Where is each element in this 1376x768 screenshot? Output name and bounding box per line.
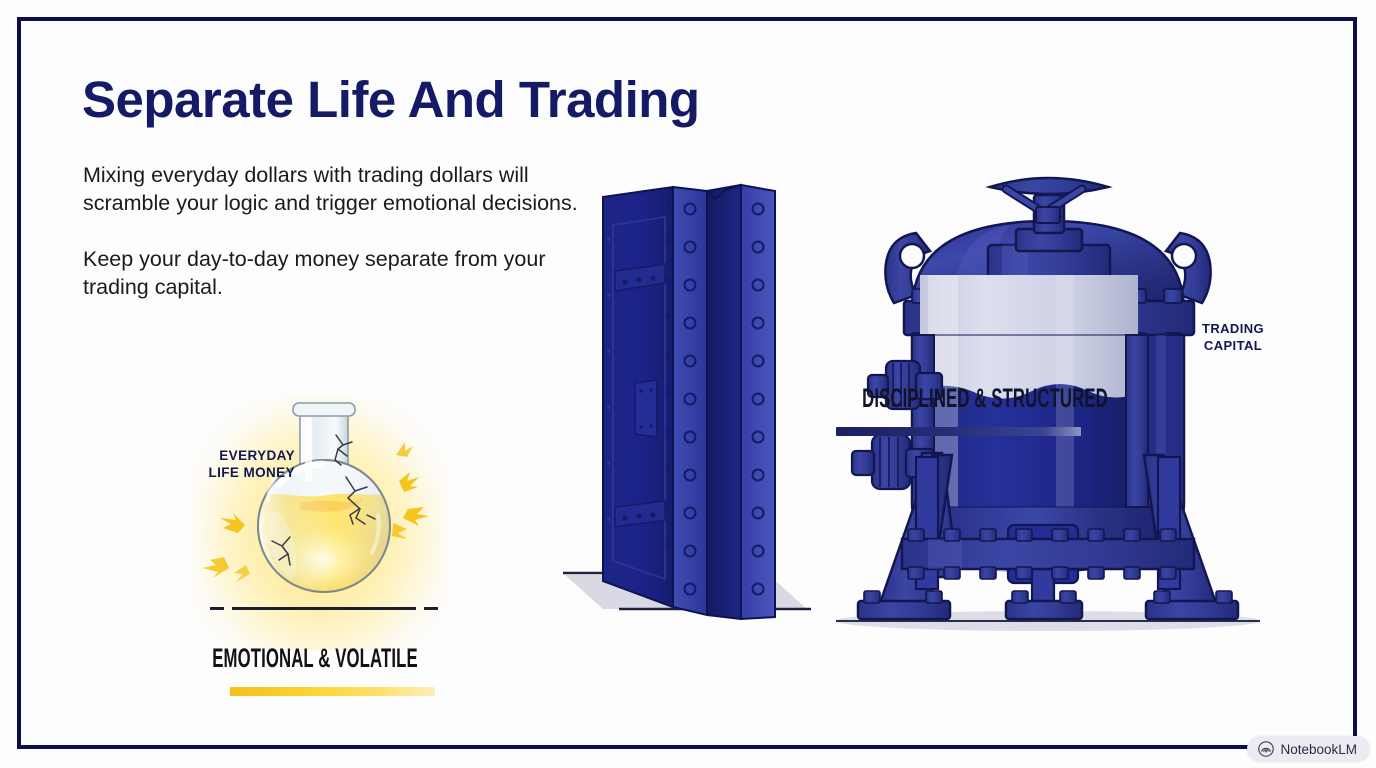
slide-canvas: Separate Life And Trading Mixing everyda… bbox=[0, 0, 1376, 768]
notebooklm-watermark-label: NotebookLM bbox=[1280, 742, 1357, 757]
notebooklm-spiral-icon bbox=[1258, 741, 1274, 757]
notebooklm-watermark: NotebookLM bbox=[1247, 736, 1370, 762]
trading-capital-label-line2: CAPITAL bbox=[1204, 338, 1262, 353]
page-title: Separate Life And Trading bbox=[82, 70, 700, 129]
body-paragraph-2: Keep your day-to-day money separate from… bbox=[83, 245, 583, 301]
vault-door-icon bbox=[555, 175, 825, 625]
left-caption-underline bbox=[230, 687, 435, 696]
everyday-money-label-line2: LIFE MONEY bbox=[208, 465, 295, 480]
trading-capital-label: TRADING CAPITAL bbox=[1178, 320, 1288, 354]
pressure-vessel-tank-icon bbox=[820, 125, 1280, 635]
everyday-money-label: EVERYDAY LIFE MONEY bbox=[145, 447, 295, 481]
body-paragraph-1: Mixing everyday dollars with trading dol… bbox=[83, 161, 583, 217]
cracked-flask-icon bbox=[150, 385, 480, 645]
trading-capital-label-line1: TRADING bbox=[1202, 321, 1264, 336]
flask-ground-line bbox=[210, 607, 438, 610]
everyday-money-label-line1: EVERYDAY bbox=[219, 448, 295, 463]
right-caption-underline bbox=[836, 427, 1081, 436]
left-caption: EMOTIONAL & VOLATILE bbox=[169, 643, 460, 674]
everyday-money-illustration: EVERYDAY LIFE MONEY EMOTIONAL & VOLATILE bbox=[150, 385, 480, 715]
vault-door-illustration bbox=[555, 175, 825, 625]
body-copy: Mixing everyday dollars with trading dol… bbox=[83, 161, 583, 301]
right-caption: DISCIPLINED & STRUCTURED bbox=[839, 383, 1130, 414]
trading-capital-illustration: TRADING CAPITAL DISCIPLINED & STRUCTURED bbox=[820, 125, 1280, 635]
